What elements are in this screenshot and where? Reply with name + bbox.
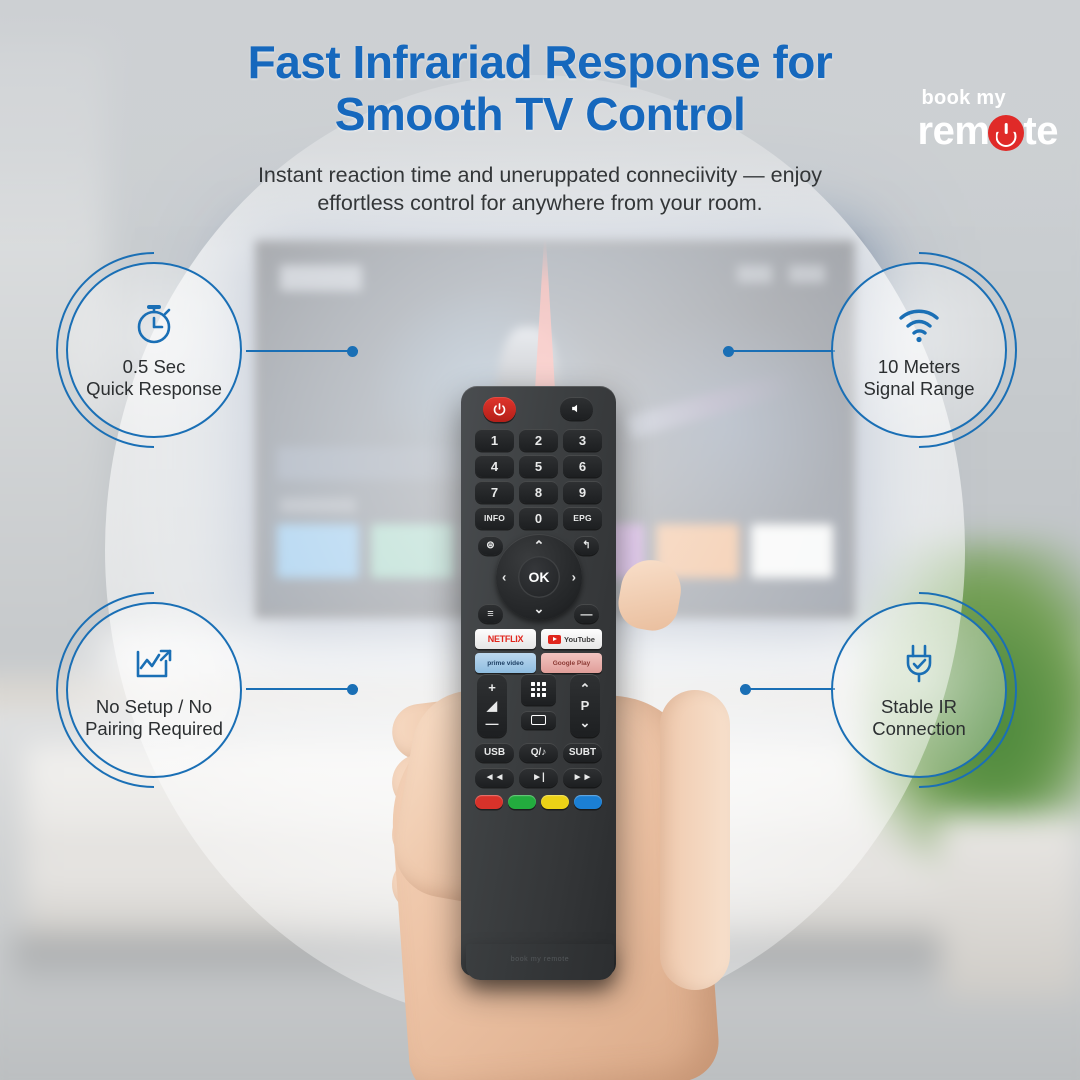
page-subtitle: Instant reaction time and uneruppated co… [220,161,860,218]
hand-knuckles [660,690,730,990]
key-1[interactable]: 1 [475,429,514,451]
rewind-button[interactable]: ◄◄ [475,768,514,787]
badge-label: Stable IR Connection [872,696,966,740]
number-keypad[interactable]: 1 2 3 4 5 6 7 8 9 INFO 0 EPG [475,429,602,529]
back-button[interactable]: ↰ [574,536,599,555]
screen-icon [531,715,546,725]
key-2[interactable]: 2 [519,429,558,451]
badge-line-2: Signal Range [863,378,974,399]
feature-badge-signal-range[interactable]: 10 Meters Signal Range [831,262,1007,438]
quick-audio-button[interactable]: Q/♪ [519,743,558,762]
badge-line-1: No Setup / No [96,696,212,717]
app-shortcut-buttons[interactable]: NETFLIX YouTube prime video Google Play [475,629,602,673]
volume-icon: ◢ [487,699,497,712]
connector-dot [347,346,358,357]
dpad-left[interactable]: ‹ [502,570,506,585]
key-epg[interactable]: EPG [563,507,602,529]
connector-line-setup [246,688,358,690]
color-buttons[interactable] [475,795,602,809]
channel-rocker[interactable]: ⌃ P ⌄ [570,674,600,737]
key-9[interactable]: 9 [563,481,602,503]
brand-logo[interactable]: book my remte [918,88,1058,152]
netflix-button[interactable]: NETFLIX [475,629,536,649]
source-button[interactable]: ⊜ [478,536,503,555]
power-icon [988,115,1024,151]
chart-arrow-icon [130,640,178,688]
connector-line-quick [246,350,358,352]
yellow-button[interactable] [541,795,569,809]
volume-rocker[interactable]: + ◢ — [477,674,507,737]
key-4[interactable]: 4 [475,455,514,477]
logo-top-text: book my [922,88,1058,108]
dpad[interactable]: ⌃ ⌄ ‹ › OK [496,534,582,620]
remote-brand-text: book my remote [466,956,614,963]
plug-check-icon [895,640,943,688]
channel-up[interactable]: ⌃ [580,682,591,695]
volume-down[interactable]: — [486,717,499,730]
channel-label: P [581,699,590,712]
power-button[interactable] [483,397,516,422]
apps-grid-icon [531,682,546,697]
logo-word-after: te [1023,109,1058,153]
key-info[interactable]: INFO [475,507,514,529]
volume-up[interactable]: + [488,681,496,694]
badge-line-1: 10 Meters [878,356,960,377]
badge-label: 10 Meters Signal Range [863,356,974,400]
screen-button[interactable] [521,711,556,729]
dpad-right[interactable]: › [572,570,576,585]
subtitle-button[interactable]: SUBT [563,743,602,762]
badge-label: No Setup / No Pairing Required [85,696,223,740]
logo-bottom-text: remte [918,110,1058,152]
mute-icon [570,402,583,415]
prime-video-button[interactable]: prime video [475,653,536,673]
badge-line-1: 0.5 Sec [123,356,186,377]
poster-stage: Fast Infrariad Response for Smooth TV Co… [0,0,1080,1080]
channel-down[interactable]: ⌄ [580,716,591,729]
badge-label: 0.5 Sec Quick Response [86,356,222,400]
wifi-icon [895,300,943,348]
youtube-icon [548,635,561,644]
transport-row[interactable]: ◄◄ ►| ►► [475,768,602,787]
dpad-down[interactable]: ⌄ [534,601,545,617]
connector-dot [347,684,358,695]
google-play-button[interactable]: Google Play [541,653,602,673]
badge-line-2: Pairing Required [85,718,223,739]
logo-word-before: rem [918,109,990,153]
badge-line-2: Connection [872,718,966,739]
key-6[interactable]: 6 [563,455,602,477]
ok-button[interactable]: OK [518,556,560,598]
green-button[interactable] [508,795,536,809]
subtitle-line-2: effortless control for anywhere from you… [317,191,762,215]
headline-line-1: Fast Infrariad Response for [248,36,833,88]
minus-button[interactable]: — [574,604,599,623]
remote-bottom-cap: book my remote [466,944,614,980]
feature-badge-quick-response[interactable]: 0.5 Sec Quick Response [66,262,242,438]
blue-button[interactable] [574,795,602,809]
power-icon [492,402,507,417]
mute-button[interactable] [560,397,593,420]
connector-dot [740,684,751,695]
stopwatch-icon [130,300,178,348]
feature-badge-no-setup[interactable]: No Setup / No Pairing Required [66,602,242,778]
badge-line-2: Quick Response [86,378,222,399]
key-0[interactable]: 0 [519,507,558,529]
key-8[interactable]: 8 [519,481,558,503]
youtube-label: YouTube [564,635,595,644]
feature-badge-stable-ir[interactable]: Stable IR Connection [831,602,1007,778]
apps-grid-button[interactable] [521,674,556,705]
remote-control[interactable]: 1 2 3 4 5 6 7 8 9 INFO 0 EPG ⊜ ↰ ⌃ ⌄ ‹ ›… [461,386,616,976]
connector-dot [723,346,734,357]
subtitle-line-1: Instant reaction time and uneruppated co… [258,163,822,187]
fast-forward-button[interactable]: ►► [563,768,602,787]
function-row[interactable]: USB Q/♪ SUBT [475,743,602,762]
play-pause-button[interactable]: ►| [519,768,558,787]
connector-line-stable [740,688,835,690]
key-7[interactable]: 7 [475,481,514,503]
youtube-button[interactable]: YouTube [541,629,602,649]
usb-button[interactable]: USB [475,743,514,762]
dpad-up[interactable]: ⌃ [534,538,545,554]
badge-line-1: Stable IR [881,696,957,717]
menu-button[interactable]: ≡ [478,604,503,623]
connector-line-range [723,350,835,352]
red-button[interactable] [475,795,503,809]
key-5[interactable]: 5 [519,455,558,477]
key-3[interactable]: 3 [563,429,602,451]
